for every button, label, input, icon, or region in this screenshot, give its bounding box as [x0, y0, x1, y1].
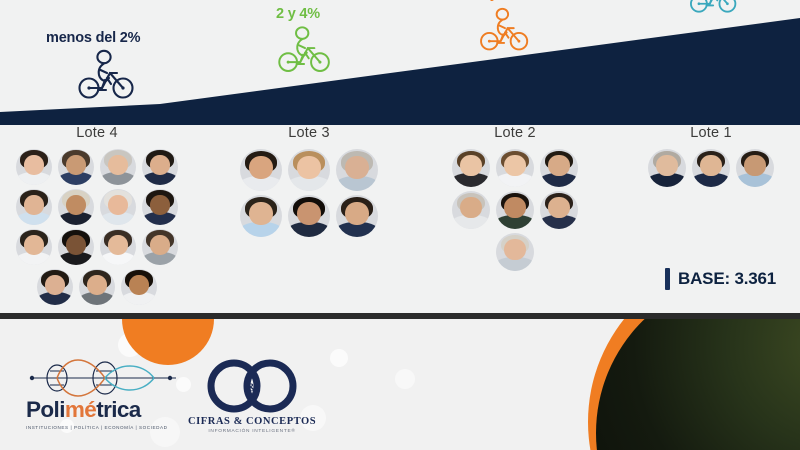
candidate-avatar [692, 149, 730, 187]
lote-column-3: Lote 3 [236, 125, 382, 239]
candidate-avatar [452, 191, 490, 229]
candidate-avatar [496, 233, 534, 271]
avatar-face [150, 195, 170, 215]
avatar-face [656, 155, 677, 176]
avatar-face [108, 195, 128, 215]
footer-panel: Polimétrica INSTITUCIONES | POLÍTICA | E… [0, 319, 800, 450]
face-grid-lote-1 [636, 147, 786, 189]
photo-blob-decoration [596, 319, 800, 450]
face-grid-lote-2 [428, 147, 602, 273]
avatar-face [548, 155, 569, 176]
bokeh-dot [395, 369, 415, 389]
avatar-face [66, 235, 86, 255]
candidate-avatar [496, 149, 534, 187]
avatar-face [45, 275, 65, 295]
polimetrica-logo: Polimétrica INSTITUCIONES | POLÍTICA | E… [26, 359, 176, 430]
lote-title-3: Lote 3 [236, 125, 382, 141]
avatar-face [24, 195, 44, 215]
candidate-avatar [288, 149, 330, 191]
lote-title-4: Lote 4 [8, 125, 186, 141]
cifras-ampersand: & [247, 380, 257, 394]
candidate-avatar [16, 229, 52, 265]
candidate-avatar [240, 195, 282, 237]
lote-column-1: Lote 1 [636, 125, 786, 189]
candidate-avatar [288, 195, 330, 237]
rider-label-green: 2 y 4% [276, 6, 334, 22]
candidate-avatar [79, 269, 115, 305]
cyclist-icon-orange [478, 6, 532, 52]
rider-group-teal [680, 0, 740, 14]
candidate-avatar [540, 191, 578, 229]
candidate-avatar [37, 269, 73, 305]
avatar-face [108, 235, 128, 255]
avatar-face [66, 155, 86, 175]
rider-group-navy: menos del 2% [46, 30, 140, 100]
candidate-avatar [121, 269, 157, 305]
lote-column-2: Lote 2 [428, 125, 602, 273]
base-accent-bar [665, 268, 670, 290]
avatar-face [548, 197, 569, 218]
avatar-face [460, 197, 481, 218]
candidate-avatar [452, 149, 490, 187]
candidate-avatar [16, 189, 52, 225]
candidate-avatar [496, 191, 534, 229]
avatar-face [87, 275, 107, 295]
cifras-conceptos-logo: & CIFRAS & CONCEPTOS INFORMACIÓN INTELIG… [188, 357, 316, 434]
avatar-face [460, 155, 481, 176]
infographic-panel: menos del 2% 2 y 4% [0, 0, 800, 313]
candidate-avatar [736, 149, 774, 187]
rider-group-green: 2 y 4% [268, 6, 334, 74]
avatar-face [108, 155, 128, 175]
lote-title-2: Lote 2 [428, 125, 602, 141]
cifras-interlocking-rings-icon: & [188, 357, 316, 415]
candidate-avatar [336, 149, 378, 191]
candidate-avatar [58, 149, 94, 185]
poli-word-part1: Poli [26, 397, 65, 422]
base-label: BASE: 3.361 [678, 269, 776, 289]
avatar-face [345, 202, 369, 226]
candidate-avatar [336, 195, 378, 237]
candidate-avatar [648, 149, 686, 187]
avatar-face [504, 197, 525, 218]
avatar-face [700, 155, 721, 176]
poli-word-part2: mé [65, 397, 96, 422]
candidate-avatar [142, 229, 178, 265]
candidate-avatar [240, 149, 282, 191]
candidate-avatar [100, 229, 136, 265]
face-grid-lote-4 [8, 147, 186, 307]
rider-label-navy: menos del 2% [46, 30, 140, 46]
cyclist-icon-teal [688, 0, 740, 14]
avatar-face [129, 275, 149, 295]
polimetrica-tagline: INSTITUCIONES | POLÍTICA | ECONOMÍA | SO… [26, 425, 176, 430]
avatar-face [744, 155, 765, 176]
rider-group-orange: 5 y 6% [470, 0, 532, 52]
avatar-face [504, 239, 525, 260]
avatar-face [297, 156, 321, 180]
avatar-face [24, 155, 44, 175]
candidate-avatar [58, 229, 94, 265]
lote-title-1: Lote 1 [636, 125, 786, 141]
face-grid-lote-3 [236, 147, 382, 239]
lote-column-4: Lote 4 [8, 125, 186, 307]
cifras-tagline: INFORMACIÓN INTELIGENTE® [188, 429, 316, 434]
candidate-avatar [58, 189, 94, 225]
rider-label-orange: 5 y 6% [478, 0, 532, 2]
polimetrica-wordmark: Polimétrica [26, 399, 176, 422]
cifras-wordmark: CIFRAS & CONCEPTOS [188, 416, 316, 427]
cyclist-icon-green [276, 24, 334, 74]
avatar-face [249, 156, 273, 180]
polimetrica-waveform-icon [26, 359, 176, 397]
avatar-face [66, 195, 86, 215]
cyclist-icon-navy [76, 48, 138, 100]
poli-word-part3: trica [96, 397, 141, 422]
candidate-avatar [540, 149, 578, 187]
avatar-face [504, 155, 525, 176]
avatar-face [345, 156, 369, 180]
candidate-avatar [16, 149, 52, 185]
bokeh-dot [330, 349, 348, 367]
avatar-face [297, 202, 321, 226]
candidate-avatar [100, 189, 136, 225]
avatar-face [24, 235, 44, 255]
candidate-avatar [100, 149, 136, 185]
base-badge: BASE: 3.361 [665, 268, 776, 290]
candidate-avatar [142, 189, 178, 225]
avatar-face [150, 235, 170, 255]
avatar-face [249, 202, 273, 226]
avatar-face [150, 155, 170, 175]
candidate-avatar [142, 149, 178, 185]
